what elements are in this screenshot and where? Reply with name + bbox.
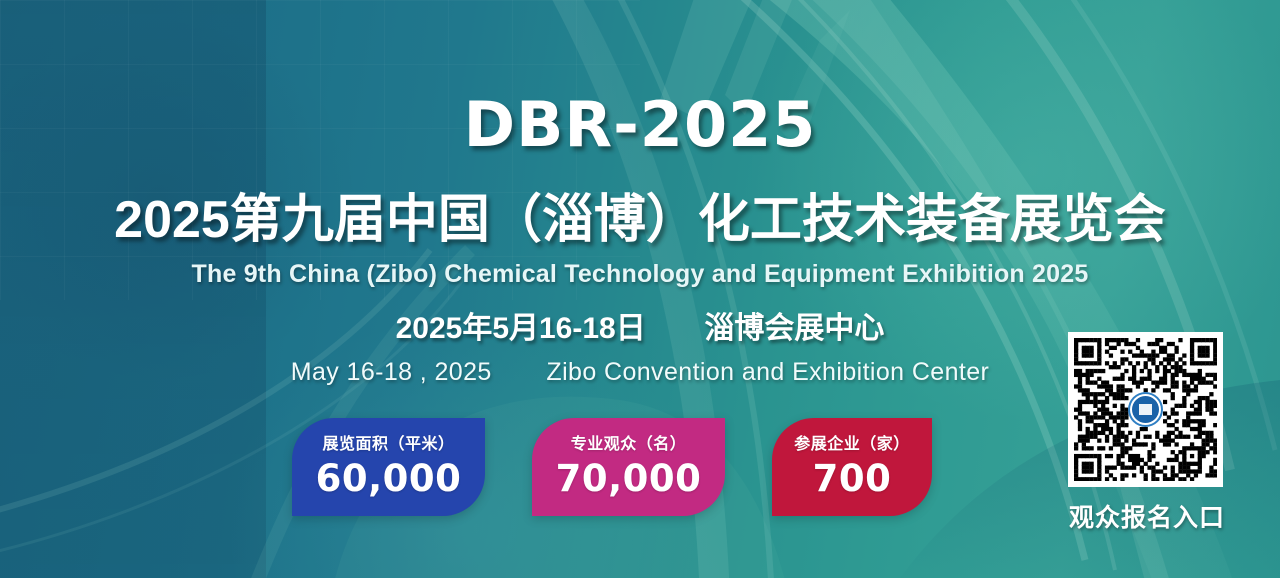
stat-value: 60,000	[316, 460, 462, 497]
event-date-english: May 16-18 , 2025	[291, 358, 492, 386]
event-venue-chinese: 淄博会展中心	[704, 312, 884, 345]
stat-value: 70,000	[556, 460, 702, 497]
stat-badge-exhibiting-companies: 参展企业（家） 700	[772, 418, 932, 516]
stat-label: 参展企业（家）	[794, 437, 910, 453]
stat-badge-exhibition-area: 展览面积（平米） 60,000	[292, 418, 485, 516]
stat-label: 展览面积（平米）	[322, 437, 454, 453]
banner-content: DBR-2025 2025第九届中国（淄博）化工技术装备展览会 The 9th …	[0, 0, 1280, 578]
event-code-title: DBR-2025	[0, 88, 1280, 161]
event-date-chinese: 2025年5月16-18日	[396, 312, 646, 345]
qr-code-image[interactable]	[1068, 332, 1223, 487]
qr-caption-visitor-registration: 观众报名入口	[1068, 498, 1226, 534]
stat-value: 700	[813, 460, 892, 497]
stat-label: 专业观众（名）	[571, 437, 687, 453]
event-title-chinese: 2025第九届中国（淄博）化工技术装备展览会	[0, 177, 1280, 252]
event-title-english: The 9th China (Zibo) Chemical Technology…	[0, 260, 1280, 289]
event-venue-english: Zibo Convention and Exhibition Center	[546, 358, 989, 386]
stat-badge-professional-visitors: 专业观众（名） 70,000	[532, 418, 725, 516]
stats-row: 展览面积（平米） 60,000 专业观众（名） 70,000 参展企业（家） 7…	[292, 418, 932, 516]
qr-center-logo-icon	[1129, 393, 1163, 427]
exhibition-banner: DBR-2025 2025第九届中国（淄博）化工技术装备展览会 The 9th …	[0, 0, 1280, 578]
qr-logo-ring	[1132, 396, 1159, 423]
qr-registration-block[interactable]: 观众报名入口	[1068, 332, 1226, 534]
